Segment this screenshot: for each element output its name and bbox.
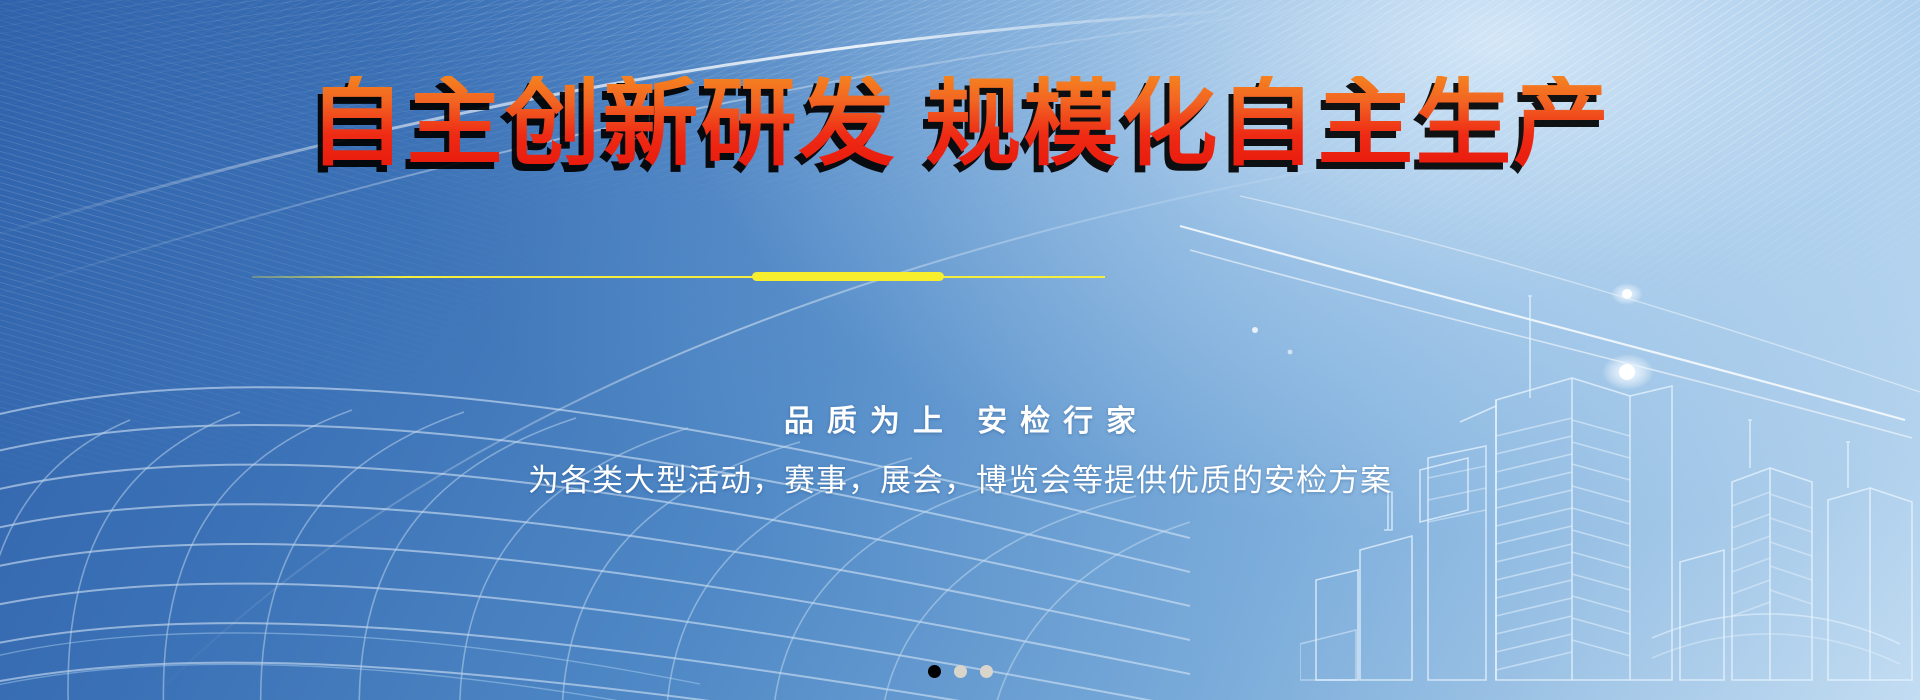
carousel-indicators[interactable] <box>0 665 1920 678</box>
hero-banner: 自主创新研发 规模化自主生产 品质为上 安检行家 为各类大型活动，赛事，展会，博… <box>0 0 1920 700</box>
divider-line-right <box>945 276 1105 278</box>
banner-content: 自主创新研发 规模化自主生产 品质为上 安检行家 为各类大型活动，赛事，展会，博… <box>0 0 1920 700</box>
banner-tagline: 为各类大型活动，赛事，展会，博览会等提供优质的安检方案 <box>0 455 1920 500</box>
divider-bar-center <box>752 272 944 281</box>
page-title: 自主创新研发 规模化自主生产 <box>0 76 1920 172</box>
carousel-dot-1[interactable] <box>928 665 941 678</box>
carousel-dot-3[interactable] <box>980 665 993 678</box>
carousel-dot-2[interactable] <box>954 665 967 678</box>
banner-subtitle: 品质为上 安检行家 <box>0 396 1920 440</box>
yellow-divider <box>0 270 1920 284</box>
